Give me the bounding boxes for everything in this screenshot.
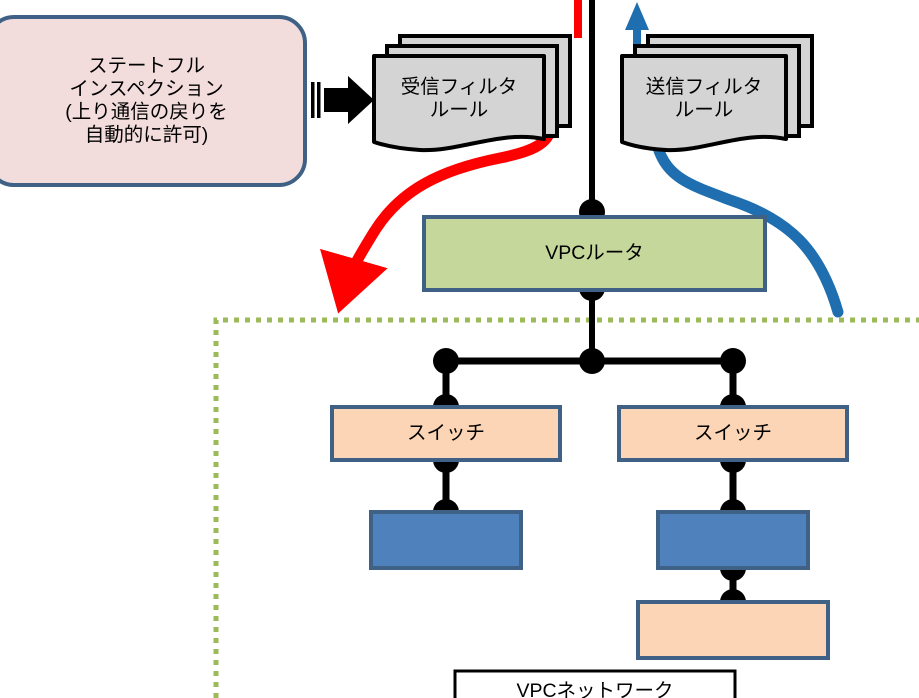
switch-left-box <box>332 407 560 460</box>
vpc-network-caption-box <box>455 671 735 698</box>
stateful-inspection-box <box>0 17 305 185</box>
inspection-arrow-icon <box>311 76 374 124</box>
server-right-box <box>658 512 808 568</box>
appliance-right-box <box>638 602 828 658</box>
egress-filter-stack <box>622 36 812 150</box>
switch-right-box <box>619 407 847 460</box>
server-left-box <box>371 512 521 568</box>
vpc-network-diagram: ステートフル インスペクション (上り通信の戻りを 自動的に許可) 受信フィルタ… <box>0 0 919 698</box>
vpc-router-box <box>424 217 765 290</box>
ingress-filter-stack <box>374 36 570 150</box>
diagram-graphics <box>0 0 919 698</box>
